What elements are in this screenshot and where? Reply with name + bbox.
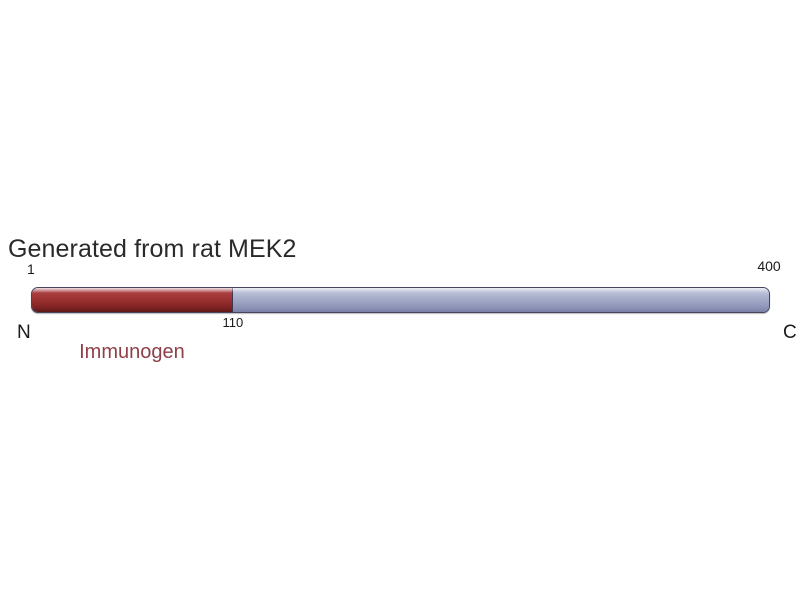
c-terminus-label: C [783,322,797,344]
immunogen-label: Immunogen [79,340,185,364]
residue-end-label: 400 [757,259,780,274]
segment-immunogen [32,288,233,312]
diagram-canvas: Generated from rat MEK2 1 400 110 N C Im… [0,0,800,600]
residue-start-label: 1 [27,262,35,277]
protein-length-bar [31,287,770,313]
page-title: Generated from rat MEK2 [8,234,297,264]
residue-boundary-label: 110 [223,315,244,330]
segment-remaining-sequence [233,288,769,312]
n-terminus-label: N [17,322,31,344]
